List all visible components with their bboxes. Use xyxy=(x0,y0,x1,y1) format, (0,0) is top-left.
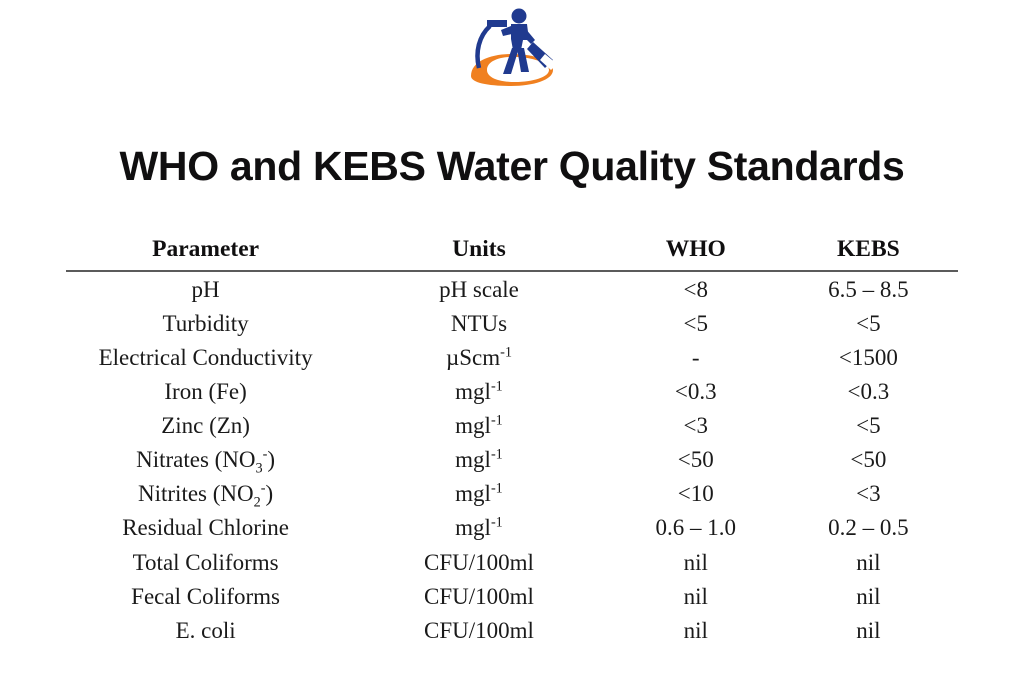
cell-who: <50 xyxy=(613,443,779,477)
cell-units: NTUs xyxy=(345,306,613,340)
cell-who: nil xyxy=(613,545,779,579)
cell-units: mgl-1 xyxy=(345,409,613,443)
column-header-kebs: KEBS xyxy=(779,236,958,271)
cell-who: nil xyxy=(613,579,779,613)
table-header-row: Parameter Units WHO KEBS xyxy=(66,236,958,271)
cell-parameter: Residual Chlorine xyxy=(66,511,345,545)
cell-units: CFU/100ml xyxy=(345,579,613,613)
cell-units: mgl-1 xyxy=(345,511,613,545)
column-header-units: Units xyxy=(345,236,613,271)
cell-who: <3 xyxy=(613,409,779,443)
cell-units: µScm-1 xyxy=(345,340,613,374)
cell-parameter: Fecal Coliforms xyxy=(66,579,345,613)
cell-units: CFU/100ml xyxy=(345,613,613,647)
table-row: pHpH scale<86.5 – 8.5 xyxy=(66,271,958,306)
cell-kebs: <50 xyxy=(779,443,958,477)
table-row: TurbidityNTUs<5<5 xyxy=(66,306,958,340)
table-row: Zinc (Zn)mgl-1<3<5 xyxy=(66,409,958,443)
table-body: pHpH scale<86.5 – 8.5TurbidityNTUs<5<5El… xyxy=(66,271,958,647)
logo-area xyxy=(0,0,1024,100)
cell-units: mgl-1 xyxy=(345,374,613,408)
table-row: Residual Chlorinemgl-10.6 – 1.00.2 – 0.5 xyxy=(66,511,958,545)
logo-canister-bar xyxy=(487,20,507,27)
table-row: Iron (Fe)mgl-1<0.3<0.3 xyxy=(66,374,958,408)
cell-kebs: <0.3 xyxy=(779,374,958,408)
standards-table: Parameter Units WHO KEBS pHpH scale<86.5… xyxy=(66,236,958,647)
standards-table-container: Parameter Units WHO KEBS pHpH scale<86.5… xyxy=(66,236,958,647)
cell-who: 0.6 – 1.0 xyxy=(613,511,779,545)
cell-units: mgl-1 xyxy=(345,443,613,477)
column-header-parameter: Parameter xyxy=(66,236,345,271)
cell-parameter: pH xyxy=(66,271,345,306)
cell-who: <10 xyxy=(613,477,779,511)
cell-who: - xyxy=(613,340,779,374)
cell-who: <5 xyxy=(613,306,779,340)
cell-parameter: E. coli xyxy=(66,613,345,647)
cell-who: <0.3 xyxy=(613,374,779,408)
table-row: Total ColiformsCFU/100mlnilnil xyxy=(66,545,958,579)
cell-kebs: <5 xyxy=(779,306,958,340)
table-header: Parameter Units WHO KEBS xyxy=(66,236,958,271)
cell-kebs: nil xyxy=(779,613,958,647)
logo-figure-arm-left xyxy=(501,26,512,36)
cell-parameter: Total Coliforms xyxy=(66,545,345,579)
cell-kebs: <3 xyxy=(779,477,958,511)
cell-kebs: <5 xyxy=(779,409,958,443)
cell-parameter: Iron (Fe) xyxy=(66,374,345,408)
cell-parameter: Turbidity xyxy=(66,306,345,340)
cell-units: CFU/100ml xyxy=(345,545,613,579)
table-row: Nitrites (NO2-)mgl-1<10<3 xyxy=(66,477,958,511)
cell-kebs: nil xyxy=(779,545,958,579)
cell-parameter: Nitrates (NO3-) xyxy=(66,443,345,477)
page-title: WHO and KEBS Water Quality Standards xyxy=(0,144,1024,189)
cell-kebs: 0.2 – 0.5 xyxy=(779,511,958,545)
cleaning-service-logo xyxy=(457,6,567,94)
cell-who: <8 xyxy=(613,271,779,306)
cell-who: nil xyxy=(613,613,779,647)
cell-kebs: nil xyxy=(779,579,958,613)
cell-parameter: Nitrites (NO2-) xyxy=(66,477,345,511)
logo-figure-head xyxy=(512,9,527,24)
cell-parameter: Electrical Conductivity xyxy=(66,340,345,374)
cell-units: mgl-1 xyxy=(345,477,613,511)
table-row: Electrical ConductivityµScm-1-<1500 xyxy=(66,340,958,374)
column-header-who: WHO xyxy=(613,236,779,271)
cell-units: pH scale xyxy=(345,271,613,306)
cell-parameter: Zinc (Zn) xyxy=(66,409,345,443)
cell-kebs: <1500 xyxy=(779,340,958,374)
table-row: E. coliCFU/100mlnilnil xyxy=(66,613,958,647)
table-row: Nitrates (NO3-)mgl-1<50<50 xyxy=(66,443,958,477)
table-row: Fecal ColiformsCFU/100mlnilnil xyxy=(66,579,958,613)
cell-kebs: 6.5 – 8.5 xyxy=(779,271,958,306)
